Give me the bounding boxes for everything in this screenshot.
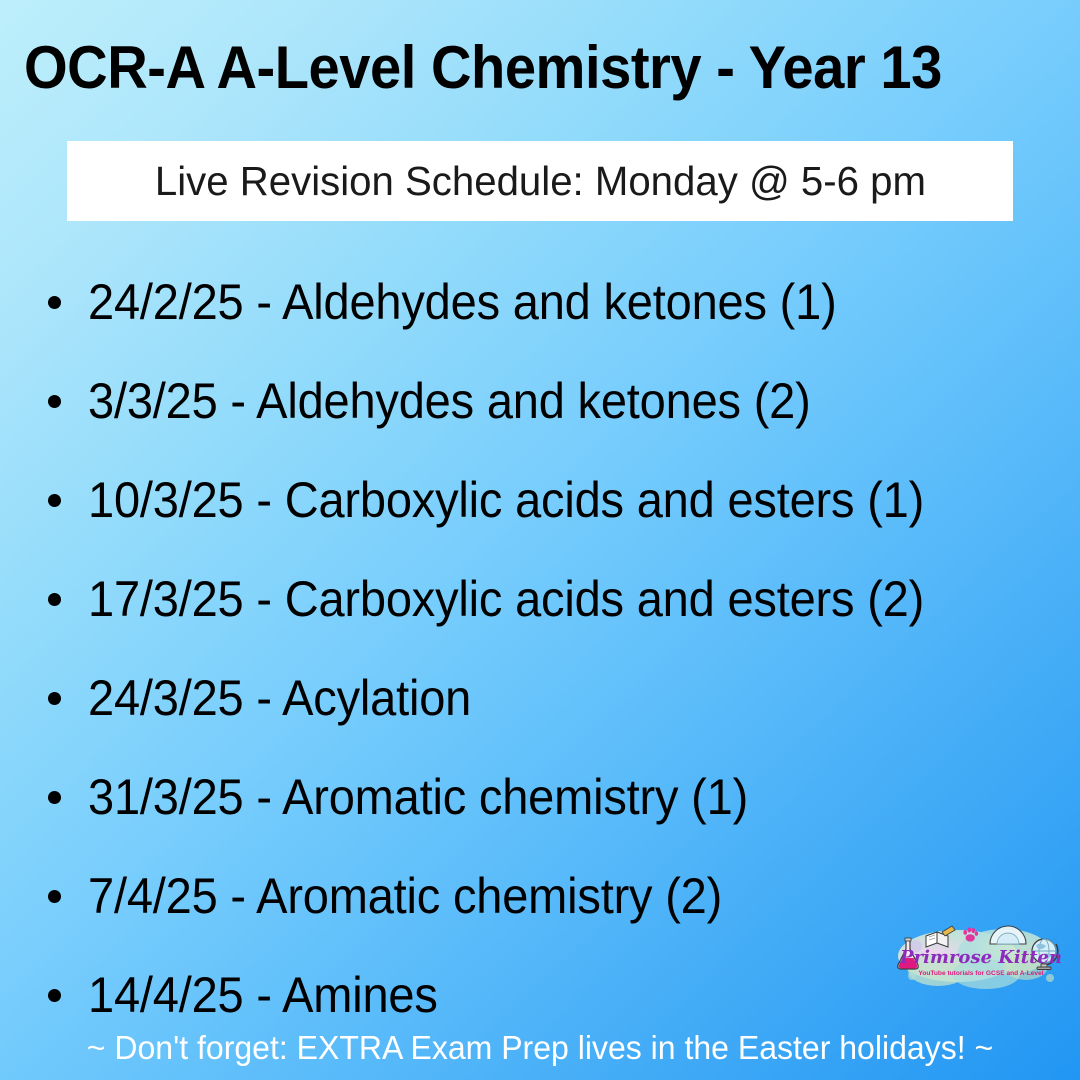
bullet-icon	[48, 593, 61, 606]
list-item-label: 10/3/25 - Carboxylic acids and esters (1…	[88, 471, 924, 529]
bullet-icon	[48, 494, 61, 507]
page-title: OCR-A A-Level Chemistry - Year 13	[24, 32, 996, 104]
list-item-label: 31/3/25 - Aromatic chemistry (1)	[88, 768, 748, 826]
primrose-kitten-logo: Primrose Kitten YouTube tutorials for GC…	[886, 916, 1076, 996]
schedule-banner: Live Revision Schedule: Monday @ 5-6 pm	[67, 141, 1013, 221]
logo-brand-text: Primrose Kitten	[899, 947, 1062, 968]
list-item: 17/3/25 - Carboxylic acids and esters (2…	[0, 549, 1080, 648]
footer-note: ~ Don't forget: EXTRA Exam Prep lives in…	[16, 1028, 1064, 1068]
list-item: 31/3/25 - Aromatic chemistry (1)	[0, 747, 1080, 846]
bullet-icon	[48, 989, 61, 1002]
list-item: 24/2/25 - Aldehydes and ketones (1)	[0, 252, 1080, 351]
list-item: 10/3/25 - Carboxylic acids and esters (1…	[0, 450, 1080, 549]
schedule-banner-label: Live Revision Schedule: Monday @ 5-6 pm	[154, 157, 925, 205]
bullet-icon	[48, 395, 61, 408]
list-item-label: 24/2/25 - Aldehydes and ketones (1)	[88, 273, 837, 331]
revision-schedule-poster: OCR-A A-Level Chemistry - Year 13 Live R…	[0, 0, 1080, 1080]
bullet-icon	[48, 692, 61, 705]
bullet-icon	[48, 296, 61, 309]
logo-tagline-text: YouTube tutorials for GCSE and A-Level	[918, 970, 1043, 977]
list-item: 24/3/25 - Acylation	[0, 648, 1080, 747]
bullet-icon	[48, 791, 61, 804]
bullet-icon	[48, 890, 61, 903]
list-item-label: 24/3/25 - Acylation	[88, 669, 471, 727]
list-item-label: 14/4/25 - Amines	[88, 966, 438, 1024]
list-item: 3/3/25 - Aldehydes and ketones (2)	[0, 351, 1080, 450]
list-item-label: 7/4/25 - Aromatic chemistry (2)	[88, 867, 722, 925]
list-item-label: 17/3/25 - Carboxylic acids and esters (2…	[88, 570, 924, 628]
list-item-label: 3/3/25 - Aldehydes and ketones (2)	[88, 372, 811, 430]
